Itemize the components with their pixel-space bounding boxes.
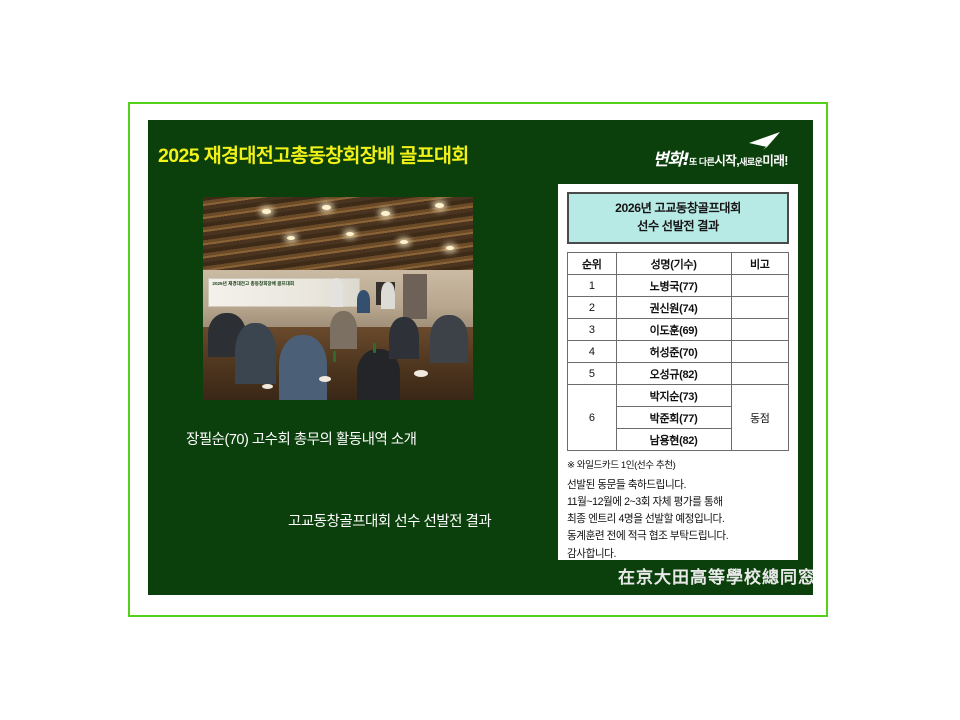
results-title-line1: 2026년 고교동창골프대회 bbox=[571, 200, 785, 218]
photo-light bbox=[446, 246, 454, 250]
cell-note: 동점 bbox=[731, 385, 788, 451]
brand-headline: 변화! bbox=[653, 150, 689, 170]
cell-rank: 6 bbox=[568, 385, 617, 451]
cell-name: 이도훈(69) bbox=[616, 319, 731, 341]
cell-rank: 2 bbox=[568, 297, 617, 319]
cell-name: 허성준(70) bbox=[616, 341, 731, 363]
cell-rank: 4 bbox=[568, 341, 617, 363]
brand-tagline-mid: 시작, bbox=[714, 154, 739, 168]
table-row: 2 권신원(74) bbox=[568, 297, 789, 319]
results-table: 순위 성명(기수) 비고 1 노병국(77) 2 권신원(74) 3 bbox=[567, 252, 789, 451]
presentation-slide: 2025 재경대전고총동창회장배 골프대회 변화!또 다른시작,새로운미래! 2… bbox=[148, 120, 813, 595]
cell-rank: 5 bbox=[568, 363, 617, 385]
table-row: 6 박지순(73) 동점 bbox=[568, 385, 789, 407]
cell-note bbox=[731, 297, 788, 319]
cell-name: 박지순(73) bbox=[616, 385, 731, 407]
cell-note bbox=[731, 275, 788, 297]
cell-rank: 3 bbox=[568, 319, 617, 341]
photo-plate bbox=[414, 370, 428, 377]
photo-door bbox=[403, 274, 427, 319]
photo-person bbox=[381, 282, 395, 308]
photo-bottle bbox=[373, 343, 376, 353]
cell-note bbox=[731, 341, 788, 363]
table-row: 4 허성준(70) bbox=[568, 341, 789, 363]
cell-name: 노병국(77) bbox=[616, 275, 731, 297]
cell-name: 남용현(82) bbox=[616, 429, 731, 451]
cell-rank: 1 bbox=[568, 275, 617, 297]
photo-person bbox=[389, 317, 419, 360]
note-line: 감사합니다. bbox=[567, 546, 789, 563]
cell-name: 오성규(82) bbox=[616, 363, 731, 385]
results-title-box: 2026년 고교동창골프대회 선수 선발전 결과 bbox=[567, 192, 789, 244]
table-row: 1 노병국(77) bbox=[568, 275, 789, 297]
brand-tagline: 변화!또 다른시작,새로운미래! bbox=[653, 145, 788, 170]
table-row: 3 이도훈(69) bbox=[568, 319, 789, 341]
photo-caption-primary: 장필순(70) 고수회 총무의 활동내역 소개 bbox=[186, 428, 417, 449]
note-line: 11월~12월에 2~3회 자체 평가를 통해 bbox=[567, 494, 789, 511]
organization-footer: 在京大田高等學校總同窓會 bbox=[618, 563, 798, 588]
photo-ceiling bbox=[203, 197, 473, 274]
cell-note bbox=[731, 363, 788, 385]
table-row: 5 오성규(82) bbox=[568, 363, 789, 385]
photo-person bbox=[357, 290, 371, 312]
results-notes: ※ 와일드카드 1인(선수 추천) 선발된 동문들 축하드립니다. 11월~12… bbox=[567, 458, 789, 562]
column-header-name: 성명(기수) bbox=[616, 253, 731, 275]
photo-light bbox=[400, 240, 408, 244]
column-header-rank: 순위 bbox=[568, 253, 617, 275]
brand-logo: 변화!또 다른시작,새로운미래! bbox=[653, 130, 803, 172]
photo-light bbox=[322, 205, 331, 210]
photo-person bbox=[430, 315, 468, 364]
slide-title: 2025 재경대전고총동창회장배 골프대회 bbox=[158, 139, 469, 168]
photo-person bbox=[235, 323, 276, 384]
photo-plate bbox=[319, 376, 331, 382]
photo-person bbox=[330, 278, 344, 306]
brand-tagline-small: 또 다른 bbox=[689, 157, 714, 167]
photo-light bbox=[346, 232, 354, 236]
photo-light bbox=[287, 236, 295, 240]
note-line: 선발된 동문들 축하드립니다. bbox=[567, 477, 789, 494]
cell-note bbox=[731, 319, 788, 341]
note-line: 최종 엔트리 4명을 선발할 예정입니다. bbox=[567, 511, 789, 528]
photo-bottle bbox=[333, 351, 336, 362]
photo-person bbox=[279, 335, 328, 400]
photo-plate bbox=[262, 384, 273, 389]
photo-caption-secondary: 고교동창골프대회 선수 선발전 결과 bbox=[288, 510, 491, 531]
brand-tagline-mid2: 미래! bbox=[762, 154, 787, 168]
brand-tagline-small2: 새로운 bbox=[739, 157, 762, 167]
event-photo: 2025년 재경대전고 총동창회장배 골프대회 bbox=[203, 197, 473, 400]
column-header-note: 비고 bbox=[731, 253, 788, 275]
cell-name: 박준회(77) bbox=[616, 407, 731, 429]
results-panel: 2026년 고교동창골프대회 선수 선발전 결과 순위 성명(기수) 비고 1 … bbox=[558, 184, 798, 560]
table-header-row: 순위 성명(기수) 비고 bbox=[568, 253, 789, 275]
results-title-line2: 선수 선발전 결과 bbox=[571, 218, 785, 236]
photo-person bbox=[330, 311, 357, 350]
wildcard-note: ※ 와일드카드 1인(선수 추천) bbox=[567, 458, 789, 474]
note-line: 동계훈련 전에 적극 협조 부탁드립니다. bbox=[567, 528, 789, 545]
cell-name: 권신원(74) bbox=[616, 297, 731, 319]
